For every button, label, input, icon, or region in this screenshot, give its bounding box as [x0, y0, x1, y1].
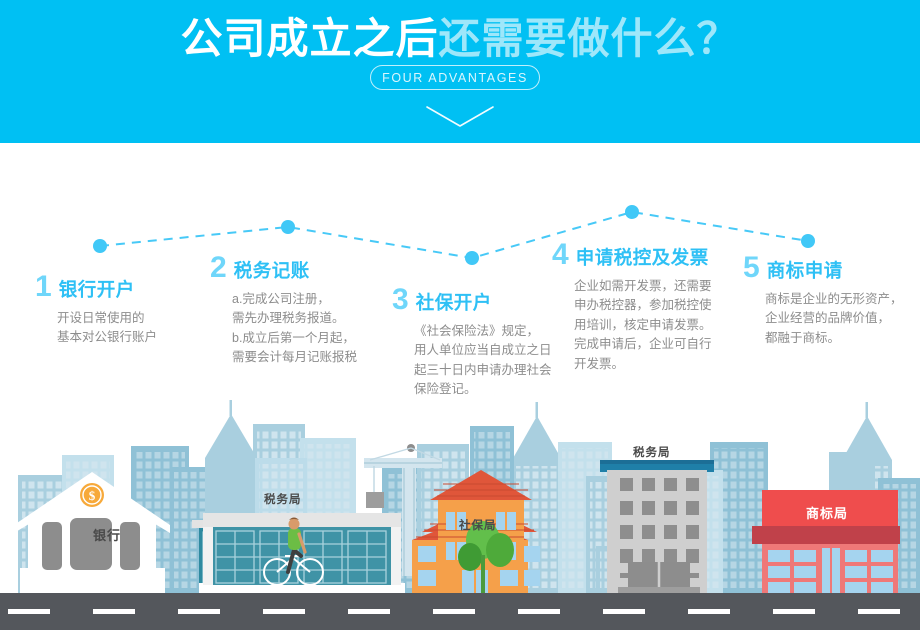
header-banner: 公司成立之后还需要做什么？ FOUR ADVANTAGES [0, 0, 920, 143]
step-1-number: 1 [35, 272, 52, 302]
step-4-description: 企业如需开发票，还需要 申办税控器，参加税控使 用培训，核定申请发票。 完成申请… [552, 277, 712, 374]
step-2-description: a.完成公司注册， 需先办理税务报道。 b.成立后第一个月起， 需要会计每月记账… [210, 290, 357, 368]
chevron-down-icon [425, 104, 495, 130]
tax-bureau-label-1: 税务局 [264, 491, 302, 507]
step-1-title: 银行开户 [59, 281, 135, 300]
step-1-heading: 1 银行开户 [35, 272, 157, 302]
step-item-5: 5 商标申请 商标是企业的无形资产， 企业经营的品牌价值， 都融于商标。 [743, 253, 903, 348]
step-3-number: 3 [392, 285, 409, 315]
timeline-dot-5 [801, 234, 815, 248]
step-item-1: 1 银行开户 开设日常使用的 基本对公银行账户 [35, 272, 157, 348]
tax-bureau-label-2: 税务局 [633, 444, 671, 460]
road-dashes [0, 609, 920, 615]
timeline-dot-2 [281, 220, 295, 234]
page-title-soft: 还需要做什么？ [439, 15, 740, 62]
step-4-number: 4 [552, 240, 569, 270]
subtitle-badge: FOUR ADVANTAGES [370, 65, 540, 90]
step-3-description: 《社会保险法》规定， 用人单位应当自成立之日 起三十日内申请办理社会 保险登记。 [392, 322, 552, 400]
step-5-heading: 5 商标申请 [743, 253, 903, 283]
timeline-dot-1 [93, 239, 107, 253]
step-5-number: 5 [743, 253, 760, 283]
trademark-label: 商标局 [806, 503, 848, 522]
step-5-title: 商标申请 [767, 262, 843, 281]
step-4-heading: 4 申请税控及发票 [552, 240, 712, 270]
page-title: 公司成立之后还需要做什么？ [0, 14, 920, 64]
step-2-title: 税务记账 [234, 262, 310, 281]
step-item-3: 3 社保开户 《社会保险法》规定， 用人单位应当自成立之日 起三十日内申请办理社… [392, 285, 552, 400]
tax-bureau-building-2 [600, 460, 714, 593]
step-2-heading: 2 税务记账 [210, 253, 357, 283]
step-5-description: 商标是企业的无形资产， 企业经营的品牌价值， 都融于商标。 [743, 290, 903, 348]
timeline-dot-4 [625, 205, 639, 219]
step-3-heading: 3 社保开户 [392, 285, 552, 315]
svg-text:$: $ [89, 488, 96, 503]
timeline-dot-3 [465, 251, 479, 265]
social-security-label: 社保局 [459, 517, 497, 533]
step-4-title: 申请税控及发票 [576, 249, 709, 268]
infographic-canvas: 公司成立之后还需要做什么？ FOUR ADVANTAGES 1 银行开户 开设日… [0, 0, 920, 630]
step-3-title: 社保开户 [416, 294, 492, 313]
step-item-2: 2 税务记账 a.完成公司注册， 需先办理税务报道。 b.成立后第一个月起， 需… [210, 253, 357, 368]
step-1-description: 开设日常使用的 基本对公银行账户 [35, 309, 157, 348]
step-2-number: 2 [210, 253, 227, 283]
step-item-4: 4 申请税控及发票 企业如需开发票，还需要 申办税控器，参加税控使 用培训，核定… [552, 240, 712, 374]
bank-label: 银行 [93, 525, 121, 544]
page-title-strong: 公司成立之后 [180, 15, 438, 62]
